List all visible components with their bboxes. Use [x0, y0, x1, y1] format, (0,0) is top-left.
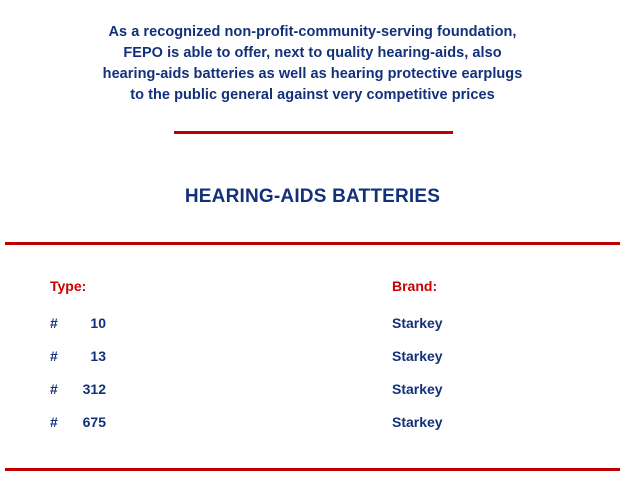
- type-number: 10: [72, 315, 106, 331]
- price-list-page: As a recognized non-profit-community-ser…: [0, 0, 625, 486]
- cell-quantity: pack of 6: [538, 306, 625, 339]
- column-header-quantity: Quantity:: [538, 266, 625, 306]
- table-row: #13 Starkey pack of 6 Afl.14,00: [0, 339, 625, 372]
- intro-line-3: hearing-aids batteries as well as hearin…: [0, 64, 625, 85]
- page-title: HEARING-AIDS BATTERIES: [0, 186, 625, 208]
- column-header-brand: Brand:: [196, 266, 538, 306]
- cell-quantity: pack of 6: [538, 339, 625, 372]
- cell-type: #675: [0, 405, 196, 438]
- table-row: #312 Starkey pack of 6 Afl.14.00: [0, 372, 625, 405]
- intro-line-1: As a recognized non-profit-community-ser…: [0, 22, 625, 43]
- cell-quantity: pack of 6: [538, 372, 625, 405]
- cell-type: #10: [0, 306, 196, 339]
- cell-brand: Starkey: [196, 405, 538, 438]
- intro-line-4: to the public general against very compe…: [0, 85, 625, 106]
- cell-brand: Starkey: [196, 339, 538, 372]
- type-number: 312: [72, 381, 106, 397]
- divider-short: [174, 131, 453, 134]
- divider-table-top: [5, 242, 620, 245]
- table-body: #10 Starkey pack of 6 Afl.14,00 #13 Star…: [0, 306, 625, 438]
- table-header: Type: Brand: Quantity: Price:: [0, 266, 625, 306]
- column-header-type: Type:: [0, 266, 196, 306]
- divider-table-bottom: [5, 468, 620, 471]
- type-value: #13: [50, 348, 110, 364]
- hash-symbol: #: [50, 414, 72, 430]
- hash-symbol: #: [50, 315, 72, 331]
- cell-type: #13: [0, 339, 196, 372]
- cell-quantity: pack of 6: [538, 405, 625, 438]
- cell-brand: Starkey: [196, 306, 538, 339]
- cell-brand: Starkey: [196, 372, 538, 405]
- type-value: #312: [50, 381, 110, 397]
- table-header-row: Type: Brand: Quantity: Price:: [0, 266, 625, 306]
- table-row: #10 Starkey pack of 6 Afl.14,00: [0, 306, 625, 339]
- cell-type: #312: [0, 372, 196, 405]
- type-value: #10: [50, 315, 110, 331]
- type-value: #675: [50, 414, 110, 430]
- hash-symbol: #: [50, 348, 72, 364]
- type-number: 13: [72, 348, 106, 364]
- hash-symbol: #: [50, 381, 72, 397]
- table-row: #675 Starkey pack of 6 Afl.14,00: [0, 405, 625, 438]
- intro-paragraph: As a recognized non-profit-community-ser…: [0, 22, 625, 106]
- battery-price-table: Type: Brand: Quantity: Price: #10 Starke…: [0, 266, 625, 438]
- intro-line-2: FEPO is able to offer, next to quality h…: [0, 43, 625, 64]
- type-number: 675: [72, 414, 106, 430]
